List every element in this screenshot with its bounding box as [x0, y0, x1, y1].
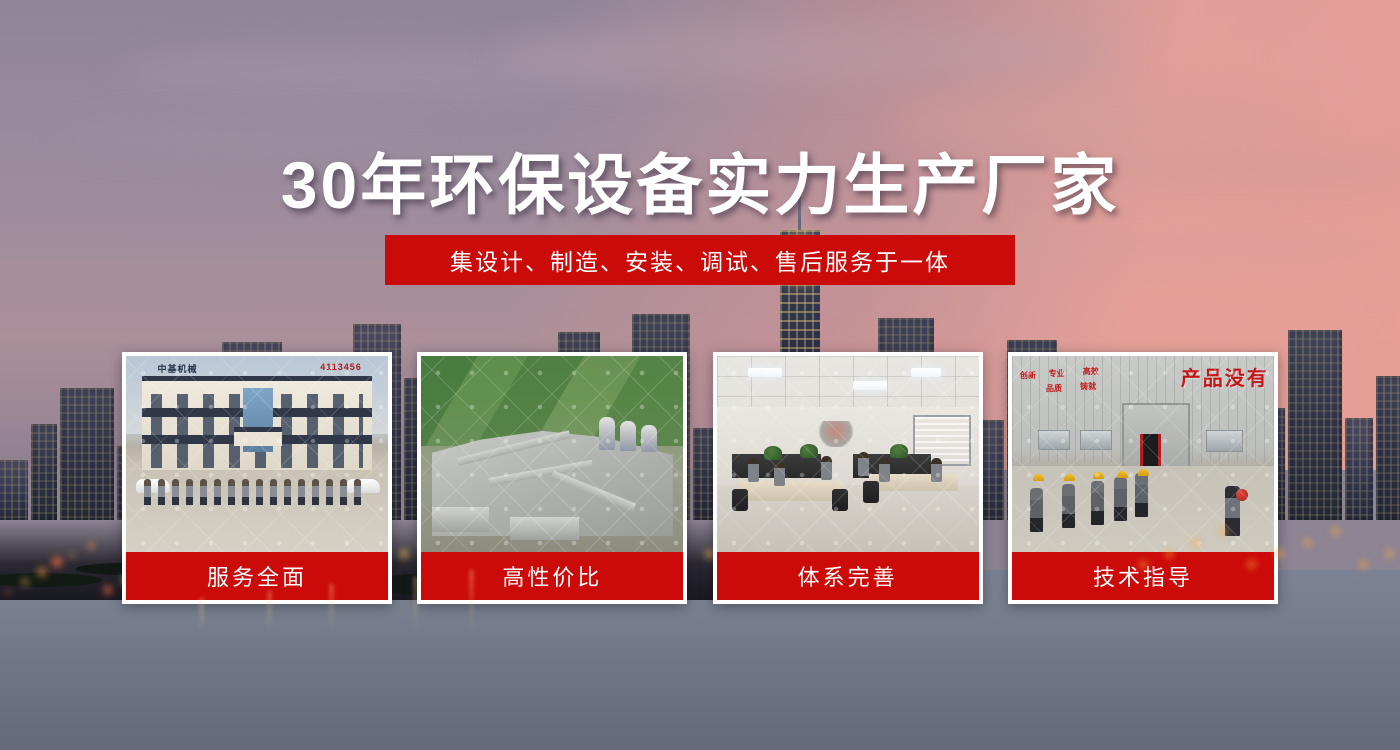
street-light	[1166, 550, 1173, 557]
card-caption: 体系完善	[717, 552, 979, 600]
water-reflection	[330, 584, 333, 632]
staff-member	[270, 479, 277, 505]
street-light	[1332, 528, 1339, 535]
ceiling-light	[853, 381, 887, 390]
ceiling-light	[748, 368, 782, 377]
staff-member	[214, 479, 221, 505]
staff-member	[326, 479, 333, 505]
street-light	[1386, 550, 1393, 557]
hard-hat-icon	[1117, 471, 1128, 478]
parked-car	[136, 479, 170, 493]
water-reflection	[414, 577, 417, 632]
street-light	[1140, 561, 1147, 568]
staff-member	[228, 479, 235, 505]
worker	[1135, 473, 1148, 517]
street-light	[1360, 561, 1367, 568]
workshop-slogan: 创新	[1020, 372, 1036, 381]
staff-member	[242, 479, 249, 505]
workshop-window	[1080, 430, 1111, 450]
street-light	[1304, 539, 1311, 546]
employee	[879, 458, 890, 482]
staff-member	[186, 479, 193, 505]
workshop-slogan: 高效	[1083, 368, 1099, 377]
chair	[863, 481, 879, 503]
feature-card[interactable]: 高性价比	[417, 352, 687, 604]
parked-car	[346, 479, 380, 493]
hard-hat-icon	[1093, 472, 1104, 479]
street-light	[38, 568, 46, 576]
ceiling	[717, 356, 979, 407]
feature-card[interactable]: 体系完善	[713, 352, 983, 604]
hard-hat-icon	[1138, 469, 1149, 476]
chair	[832, 489, 848, 511]
chair	[732, 489, 748, 511]
building	[1376, 376, 1400, 520]
staff-member	[172, 479, 179, 505]
staff-member	[354, 479, 361, 505]
hard-hat-icon	[1033, 474, 1044, 481]
staff-member	[298, 479, 305, 505]
silo	[620, 421, 636, 451]
street-light	[6, 590, 10, 594]
workshop-slogan: 品质	[1046, 385, 1062, 394]
workshop-banner-text: 产品没有	[1181, 362, 1269, 391]
workshop-slogan: 铸就	[1080, 383, 1096, 392]
card-caption: 高性价比	[421, 552, 683, 600]
wall-decal	[816, 421, 856, 447]
silo	[641, 425, 657, 452]
company-phone-text: 4113456	[320, 362, 362, 372]
card-photo-office-building: 中基机械 4113456	[126, 356, 388, 552]
shed	[432, 507, 490, 532]
street-light	[22, 579, 28, 585]
worker	[1062, 484, 1075, 528]
card-photo-office-interior	[717, 356, 979, 552]
street-light	[1220, 528, 1227, 535]
feature-card[interactable]: 中基机械 4113456 服务全面	[122, 352, 392, 604]
card-caption: 服务全面	[126, 552, 388, 600]
workshop-window	[1038, 430, 1069, 450]
street-light	[1276, 550, 1283, 557]
staff-member	[340, 479, 347, 505]
desk	[738, 481, 843, 501]
silo	[599, 417, 615, 450]
water-reflection	[268, 591, 271, 632]
workshop-window	[1206, 430, 1243, 452]
promo-banner: 30年环保设备实力生产厂家 集设计、制造、安装、调试、售后服务于一体 中基机械 …	[0, 0, 1400, 750]
staff-member	[200, 479, 207, 505]
street-light	[1192, 539, 1199, 546]
entrance-portico	[234, 427, 282, 446]
potted-plant	[764, 446, 782, 460]
employee	[774, 462, 785, 486]
red-helmet-icon	[1236, 489, 1248, 501]
staff-member	[284, 479, 291, 505]
subtitle-banner: 集设计、制造、安装、调试、售后服务于一体	[385, 235, 1015, 285]
staff-member	[144, 479, 151, 505]
street-light	[1248, 561, 1255, 568]
water-reflection	[200, 598, 203, 632]
employee	[821, 456, 832, 480]
worker	[1030, 488, 1043, 532]
workshop-slogan: 专业	[1049, 370, 1065, 379]
worker	[1114, 477, 1127, 521]
staff-member	[256, 479, 263, 505]
potted-plant	[800, 444, 818, 458]
employee	[748, 458, 759, 482]
employee	[858, 452, 869, 476]
cloud	[500, 22, 1120, 84]
hard-hat-icon	[1064, 474, 1075, 481]
shed	[510, 517, 578, 541]
water-reflection	[470, 570, 473, 632]
street-light	[104, 586, 112, 594]
subtitle-text: 集设计、制造、安装、调试、售后服务于一体	[450, 243, 950, 277]
card-caption: 技术指导	[1012, 552, 1274, 600]
staff-member	[158, 479, 165, 505]
company-logo-text: 中基机械	[157, 362, 197, 375]
worker	[1091, 481, 1104, 525]
card-photo-aerial-plant	[421, 356, 683, 552]
feature-card-row: 中基机械 4113456 服务全面	[122, 352, 1278, 604]
building	[1288, 330, 1342, 520]
page-title: 30年环保设备实力生产厂家	[0, 132, 1400, 228]
street-light	[70, 554, 74, 558]
card-photo-workshop: 产品没有 创新 专业 高效 品质 铸就	[1012, 356, 1274, 552]
street-light	[52, 557, 62, 567]
ceiling-light	[911, 368, 941, 377]
employee	[931, 458, 942, 482]
building	[1345, 418, 1373, 520]
street-light	[88, 543, 94, 549]
office-building	[142, 376, 373, 478]
potted-plant	[890, 444, 908, 458]
staff-member	[312, 479, 319, 505]
